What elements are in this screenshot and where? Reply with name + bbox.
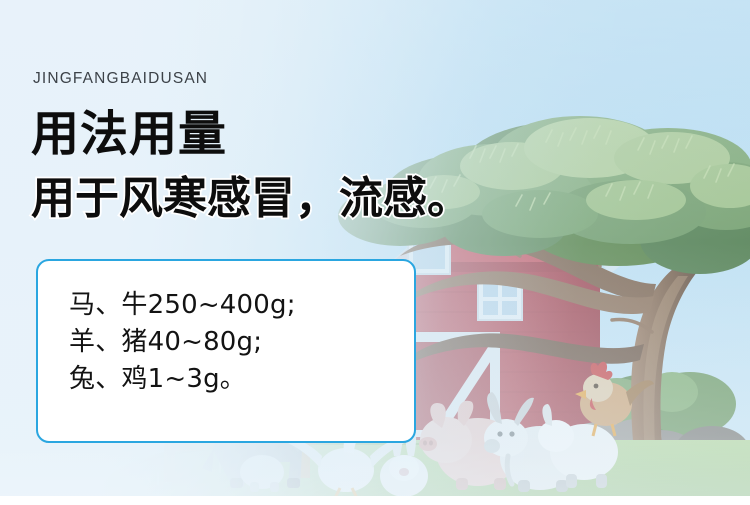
page-title-line2: 用于风寒感冒，流感。: [31, 174, 471, 224]
product-pinyin-eyebrow: JINGFANGBAIDUSAN: [33, 70, 208, 88]
dosage-card: 马、牛250~400g; 羊、猪40~80g; 兔、鸡1~3g。: [36, 259, 416, 443]
dosage-line-1: 马、牛250~400g;: [69, 287, 296, 324]
page-title-line1: 用法用量: [31, 108, 227, 160]
dosage-list: 马、牛250~400g; 羊、猪40~80g; 兔、鸡1~3g。: [69, 287, 296, 398]
bottom-white-strip: [0, 496, 750, 505]
poster-canvas: JINGFANGBAIDUSAN 用法用量 用于风寒感冒，流感。 马、牛250~…: [0, 0, 750, 505]
dosage-line-3: 兔、鸡1~3g。: [69, 361, 296, 398]
dosage-line-2: 羊、猪40~80g;: [69, 324, 296, 361]
